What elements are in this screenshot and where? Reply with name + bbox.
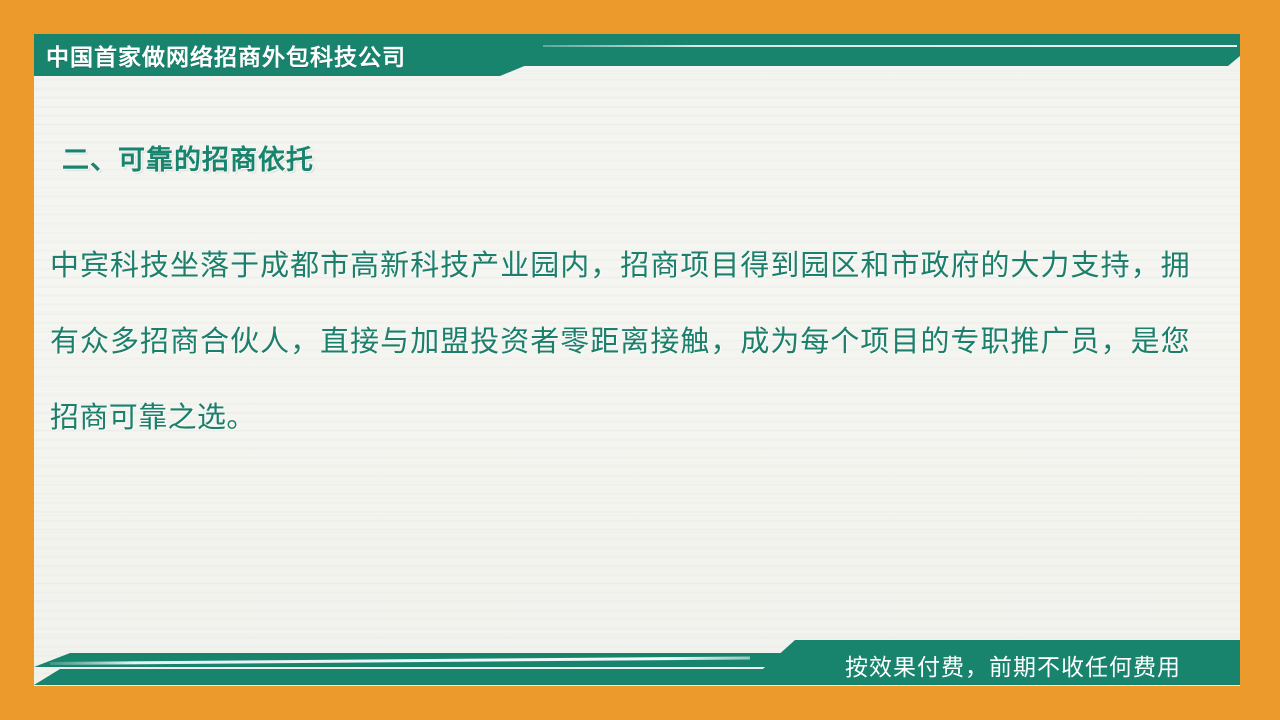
body-paragraph: 中宾科技坐落于成都市高新科技产业园内，招商项目得到园区和市政府的大力支持，拥有众…: [50, 228, 1190, 456]
section-heading: 二、可靠的招商依托: [62, 138, 314, 177]
presentation-slide: 中国首家做网络招商外包科技公司 二、可靠的招商依托 中宾科技坐落于成都市高新科技…: [0, 0, 1280, 720]
body-paragraph-text: 中宾科技坐落于成都市高新科技产业园内，招商项目得到园区和市政府的大力支持，拥有众…: [50, 228, 1190, 456]
header-hairline-divider: [543, 45, 1237, 47]
footer-tagline-text: 按效果付费，前期不收任何费用: [845, 648, 1181, 682]
header-accent-bar: [500, 34, 1240, 66]
header-banner-text: 中国首家做网络招商外包科技公司: [46, 36, 406, 74]
